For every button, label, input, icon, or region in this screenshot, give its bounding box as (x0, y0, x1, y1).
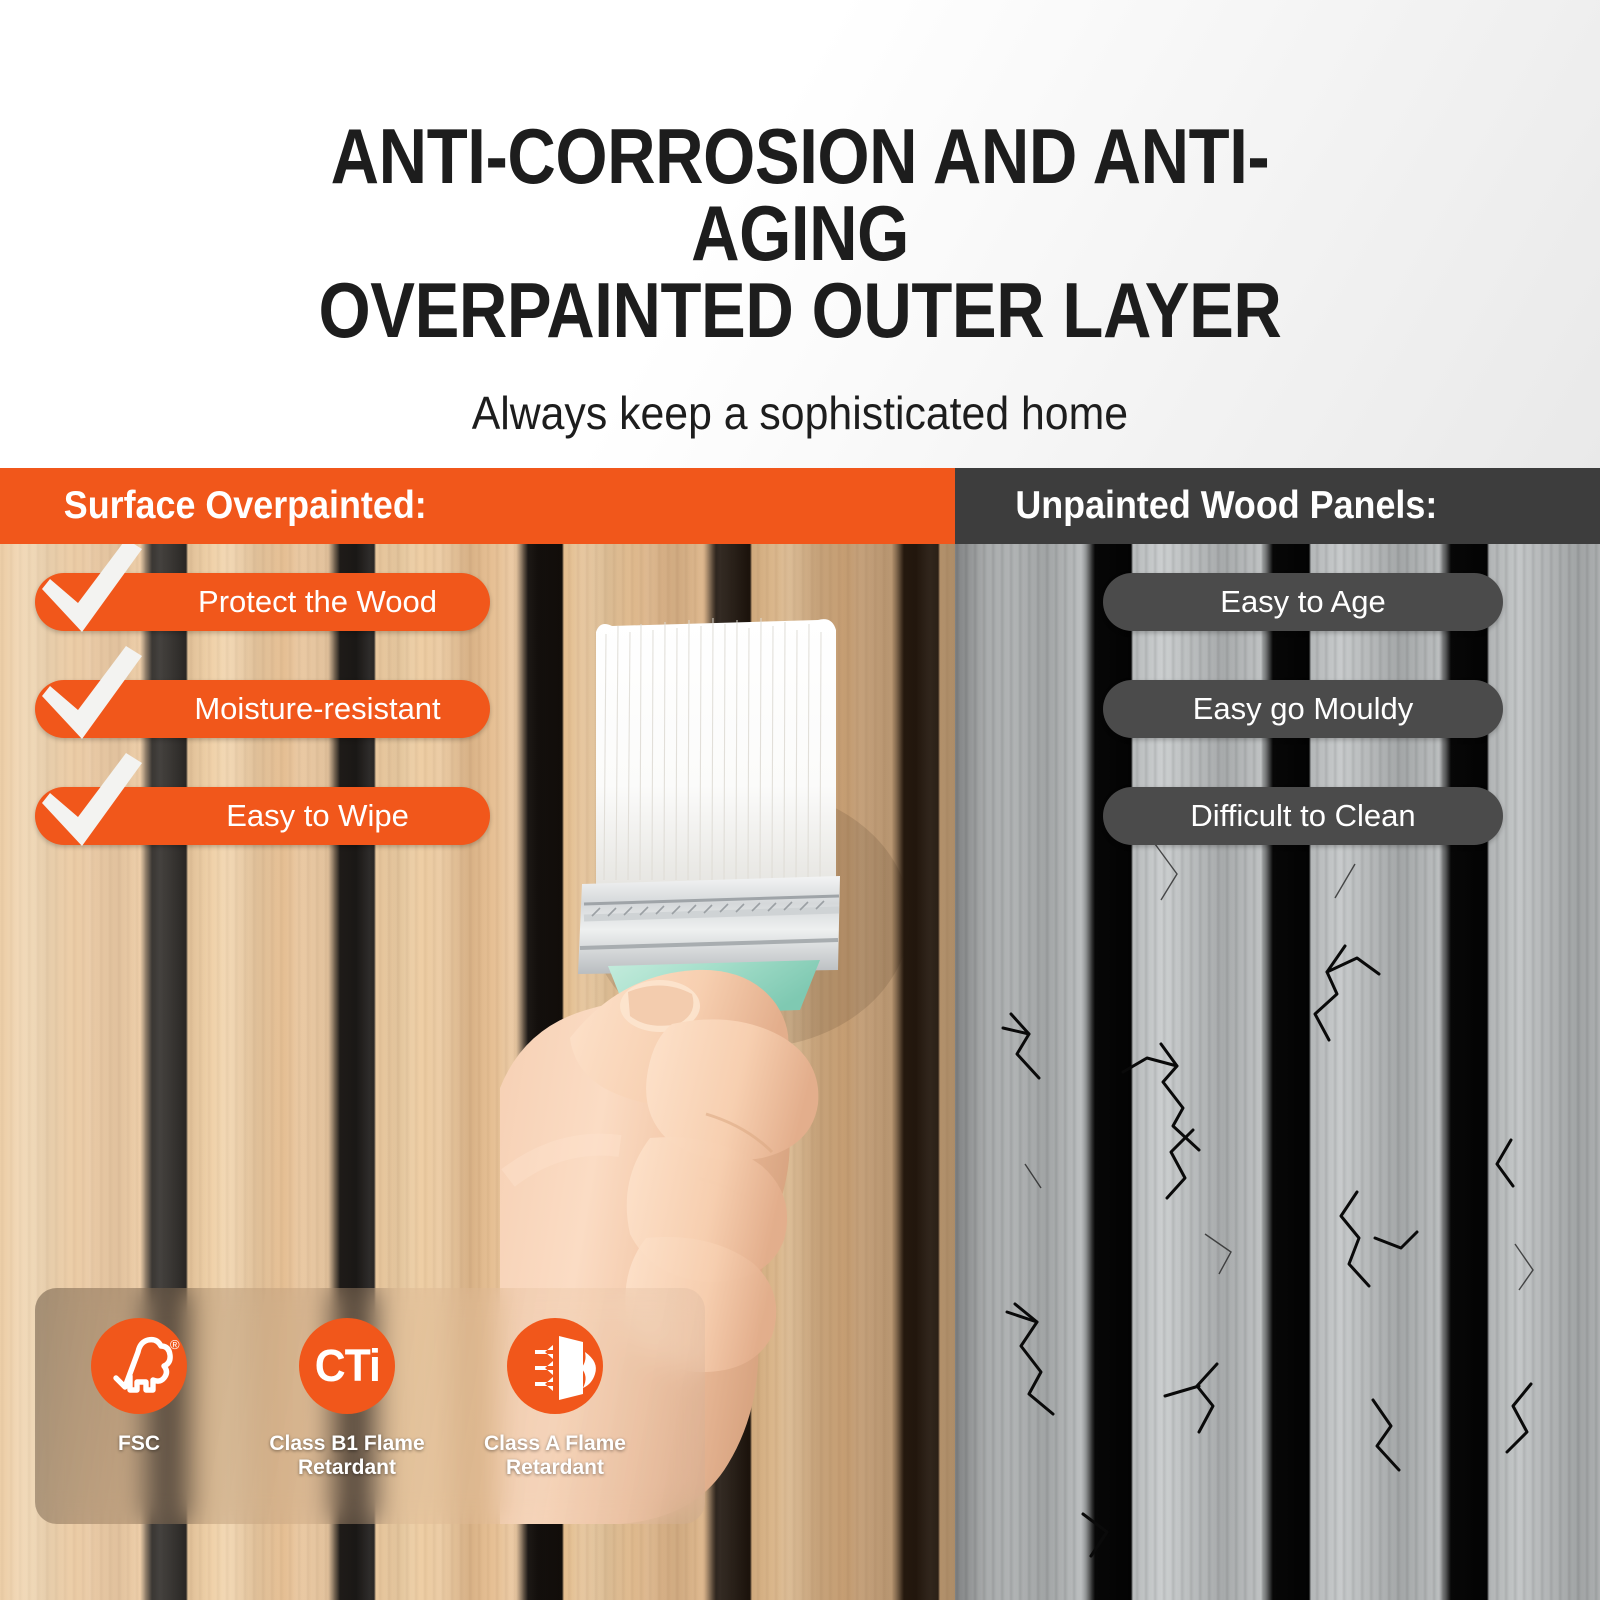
left-column-header: Surface Overpainted: (0, 468, 955, 544)
certification-label: Class A Flame Retardant (484, 1432, 626, 1481)
certification-badge-panel: ® FSC CTi Class B1 Flame Retardant (35, 1288, 705, 1524)
right-column-header: Unpainted Wood Panels: (955, 468, 1600, 544)
benefit-label: Easy to Wipe (116, 798, 409, 834)
benefit-label: Moisture-resistant (84, 691, 440, 727)
cti-logo-icon: CTi (299, 1318, 395, 1414)
drawback-pill-easy-to-age[interactable]: Easy to Age (1103, 573, 1503, 631)
certification-class-b1: CTi Class B1 Flame Retardant (243, 1318, 451, 1481)
fsc-tree-check-icon: ® (91, 1318, 187, 1414)
svg-text:®: ® (170, 1337, 180, 1352)
drawback-label: Easy to Age (1220, 584, 1385, 620)
cti-logo-text: CTi (314, 1340, 379, 1392)
certification-class-a: Class A Flame Retardant (451, 1318, 659, 1481)
page-header: ANTI-CORROSION AND ANTI-AGING OVERPAINTE… (0, 0, 1600, 468)
benefit-label: Protect the Wood (88, 584, 437, 620)
certification-label: FSC (118, 1432, 160, 1456)
drawback-pill-easy-go-mouldy[interactable]: Easy go Mouldy (1103, 680, 1503, 738)
brush-bristles (596, 618, 836, 888)
benefit-pill-protect-the-wood[interactable]: Protect the Wood (35, 573, 490, 631)
brush-ferrule (578, 876, 840, 974)
certification-fsc: ® FSC (35, 1318, 243, 1456)
flame-retardant-panel-icon (507, 1318, 603, 1414)
page-subtitle: Always keep a sophisticated home (472, 386, 1128, 440)
drawback-label: Easy go Mouldy (1193, 691, 1414, 727)
page-title: ANTI-CORROSION AND ANTI-AGING OVERPAINTE… (224, 118, 1376, 350)
benefit-pill-easy-to-wipe[interactable]: Easy to Wipe (35, 787, 490, 845)
benefit-pill-moisture-resistant[interactable]: Moisture-resistant (35, 680, 490, 738)
drawback-pill-difficult-to-clean[interactable]: Difficult to Clean (1103, 787, 1503, 845)
drawback-label: Difficult to Clean (1190, 798, 1415, 834)
comparison-band: Surface Overpainted: Unpainted Wood Pane… (0, 468, 1600, 1600)
right-column-heading: Unpainted Wood Panels: (1015, 484, 1437, 528)
left-column-heading: Surface Overpainted: (64, 484, 427, 528)
certification-label: Class B1 Flame Retardant (269, 1432, 424, 1481)
